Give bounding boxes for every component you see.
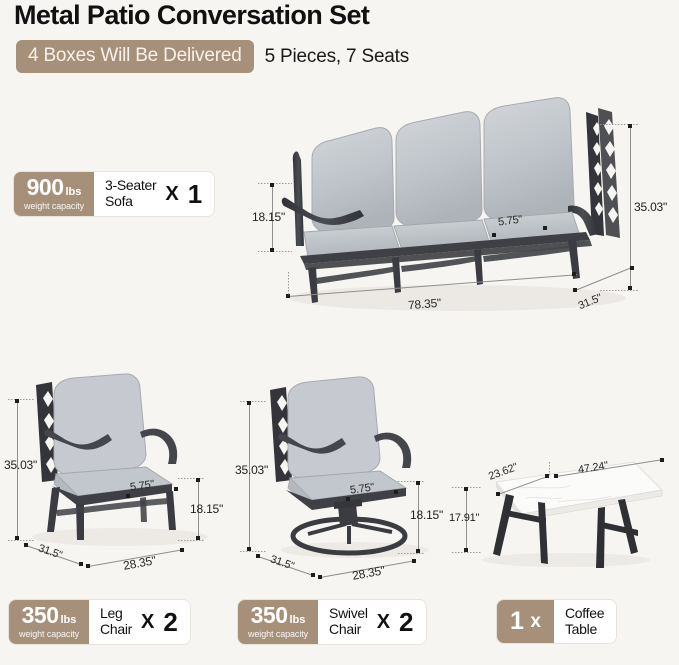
leg-chair-item: Leg Chair X 2 — [89, 600, 190, 644]
badge-swivel-chair: 350 lbs weight capacity Swivel Chair X 2 — [238, 600, 426, 644]
leg-chair-illustration — [20, 372, 220, 557]
swivel-chair-item-name: Swivel Chair — [329, 606, 368, 637]
badge-coffee-table: 1 x Coffee Table — [497, 600, 616, 643]
swivel-chair-item-line2: Chair — [329, 622, 368, 638]
leg-chair-capacity-unit: lbs — [61, 615, 77, 626]
sofa-capacity-value: 900 — [27, 176, 64, 199]
leg-chair-capacity-value: 350 — [22, 604, 59, 627]
header-subrow: 4 Boxes Will Be Delivered 5 Pieces, 7 Se… — [16, 40, 409, 73]
swivel-chair-capacity: 350 lbs weight capacity — [238, 600, 318, 644]
swivel-chair-capacity-unit: lbs — [290, 615, 306, 626]
sofa-item-name: 3-Seater Sofa — [105, 178, 156, 209]
leg-chair-seat-height-label: 18.15" — [190, 502, 223, 516]
leg-chair-item-line2: Chair — [100, 622, 132, 638]
swivel-chair-item-line1: Swivel — [329, 606, 368, 622]
sofa-capacity-label: weight capacity — [24, 201, 84, 211]
coffee-table-item-line2: Table — [565, 622, 604, 638]
sofa-item-line2: Sofa — [105, 194, 156, 210]
sofa-item-line1: 3-Seater — [105, 178, 156, 194]
badge-leg-chair: 350 lbs weight capacity Leg Chair X 2 — [9, 600, 190, 644]
pieces-seats-text: 5 Pieces, 7 Seats — [265, 46, 409, 68]
swivel-chair-multiplier: X — [377, 611, 390, 634]
sofa-item: 3-Seater Sofa X 1 — [94, 172, 214, 216]
leg-chair-item-name: Leg Chair — [100, 606, 132, 637]
sofa-multiplier: X — [165, 183, 178, 206]
swivel-chair-capacity-value: 350 — [251, 604, 288, 627]
swivel-chair-item: Swivel Chair X 2 — [318, 600, 425, 644]
swivel-chair-quantity: 2 — [399, 609, 413, 635]
coffee-table-multiplier: x — [530, 611, 541, 633]
sofa-capacity-unit: lbs — [66, 187, 82, 198]
badge-sofa: 900 lbs weight capacity 3-Seater Sofa X … — [14, 172, 214, 216]
sofa-seat-height-label: 18.15" — [252, 210, 285, 224]
swivel-chair-back-cushion — [288, 377, 380, 478]
leg-chair-multiplier: X — [141, 611, 154, 634]
swivel-chair-height-label: 35.03" — [235, 463, 268, 477]
coffee-table-height-label: 17.91" — [449, 512, 479, 524]
coffee-table-item: Coffee Table — [554, 600, 616, 643]
leg-chair-back-cushion — [54, 374, 146, 474]
sofa-width-label: 78.35" — [408, 296, 442, 312]
sofa-back-cushions — [312, 98, 574, 232]
sofa-quantity: 1 — [188, 181, 202, 207]
swivel-chair-seat-height-label: 18.15" — [410, 508, 443, 522]
coffee-table-item-name: Coffee Table — [565, 606, 604, 637]
leg-chair-quantity: 2 — [163, 609, 177, 635]
delivery-pill: 4 Boxes Will Be Delivered — [16, 40, 254, 73]
leg-chair-capacity: 350 lbs weight capacity — [9, 600, 89, 644]
leg-chair-item-line1: Leg — [100, 606, 132, 622]
coffee-table-item-line1: Coffee — [565, 606, 604, 622]
page-title: Metal Patio Conversation Set — [14, 0, 369, 31]
sofa-height-label: 35.03" — [634, 200, 667, 214]
swivel-chair-capacity-label: weight capacity — [248, 629, 308, 639]
coffee-table-quantity: 1 — [510, 607, 523, 636]
swivel-chair-illustration — [250, 372, 455, 567]
sofa-capacity: 900 lbs weight capacity — [14, 172, 94, 216]
leg-chair-capacity-label: weight capacity — [19, 629, 79, 639]
infographic-page: Metal Patio Conversation Set 4 Boxes Wil… — [0, 0, 679, 665]
coffee-table-quantity-block: 1 x — [497, 600, 554, 643]
leg-chair-height-label: 35.03" — [4, 458, 37, 472]
